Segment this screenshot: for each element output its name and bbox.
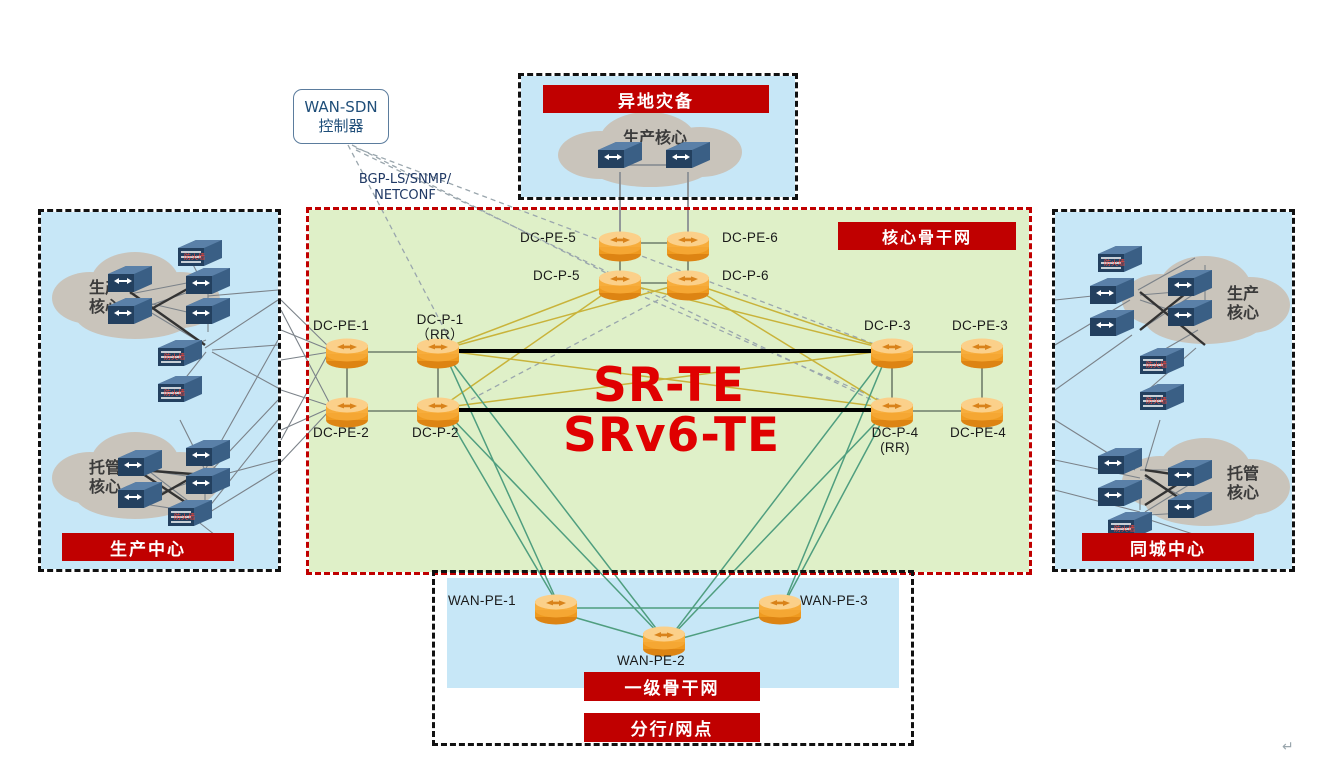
router-dc-pe-1	[326, 339, 368, 369]
label-wan-pe-2: WAN-PE-2	[617, 653, 685, 668]
label-dc-p-1: DC-P-1（RR）	[400, 312, 480, 342]
label-dc-p-4: DC-P-4(RR)	[856, 425, 934, 455]
router-dc-pe-3	[961, 339, 1003, 369]
router-dc-pe-5	[599, 232, 641, 262]
banner-metro-center: 同城中心	[1082, 533, 1254, 561]
router-dc-p-1	[417, 339, 459, 369]
label-dc-p-3: DC-P-3	[864, 318, 911, 333]
banner-core-backbone: 核心骨干网	[838, 222, 1016, 250]
router-dc-pe-4	[961, 398, 1003, 428]
router-wan-pe-2	[643, 627, 685, 657]
label-wan-pe-1: WAN-PE-1	[448, 593, 516, 608]
wan-sdn-title: WAN-SDN	[304, 98, 377, 117]
label-dc-p-6: DC-P-6	[722, 268, 769, 283]
banner-production-center: 生产中心	[62, 533, 234, 561]
router-wan-pe-3	[759, 595, 801, 625]
label-dc-pe-2: DC-PE-2	[313, 425, 369, 440]
banner-level1-backbone: 一级骨干网	[584, 672, 760, 701]
router-dc-pe-6	[667, 232, 709, 262]
label-dc-pe-6: DC-PE-6	[722, 230, 778, 245]
router-dc-p-6	[667, 271, 709, 301]
label-srv6-te: SRv6-TE	[563, 408, 780, 463]
label-dc-pe-3: DC-PE-3	[952, 318, 1008, 333]
router-dc-pe-2	[326, 398, 368, 428]
sdn-protocol-line1: BGP-LS/SNMP/	[359, 172, 451, 187]
router-dc-p-3	[871, 339, 913, 369]
router-dc-p-2	[417, 398, 459, 428]
label-dc-pe-4: DC-PE-4	[950, 425, 1006, 440]
label-dc-pe-5: DC-PE-5	[520, 230, 576, 245]
wan-sdn-controller-box[interactable]: WAN-SDN 控制器	[293, 89, 389, 144]
label-wan-pe-3: WAN-PE-3	[800, 593, 868, 608]
sdn-protocol-line2: NETCONF	[374, 188, 436, 203]
banner-dr-site: 异地灾备	[543, 85, 769, 113]
router-wan-pe-1	[535, 595, 577, 625]
banner-branch-outlet: 分行/网点	[584, 713, 760, 742]
label-dc-p-2: DC-P-2	[412, 425, 459, 440]
router-dc-p-4	[871, 398, 913, 428]
label-dc-pe-1: DC-PE-1	[313, 318, 369, 333]
sdn-protocol-caption: BGP-LS/SNMP/ NETCONF	[340, 172, 470, 204]
wan-sdn-subtitle: 控制器	[318, 117, 363, 136]
label-sr-te: SR-TE	[593, 358, 745, 413]
diagram-canvas: 生产核心 生产核心 托管核心 生产核心 托管核心	[0, 0, 1338, 783]
router-dc-p-5	[599, 271, 641, 301]
label-dc-p-5: DC-P-5	[533, 268, 580, 283]
return-mark: ↵	[1282, 738, 1294, 755]
